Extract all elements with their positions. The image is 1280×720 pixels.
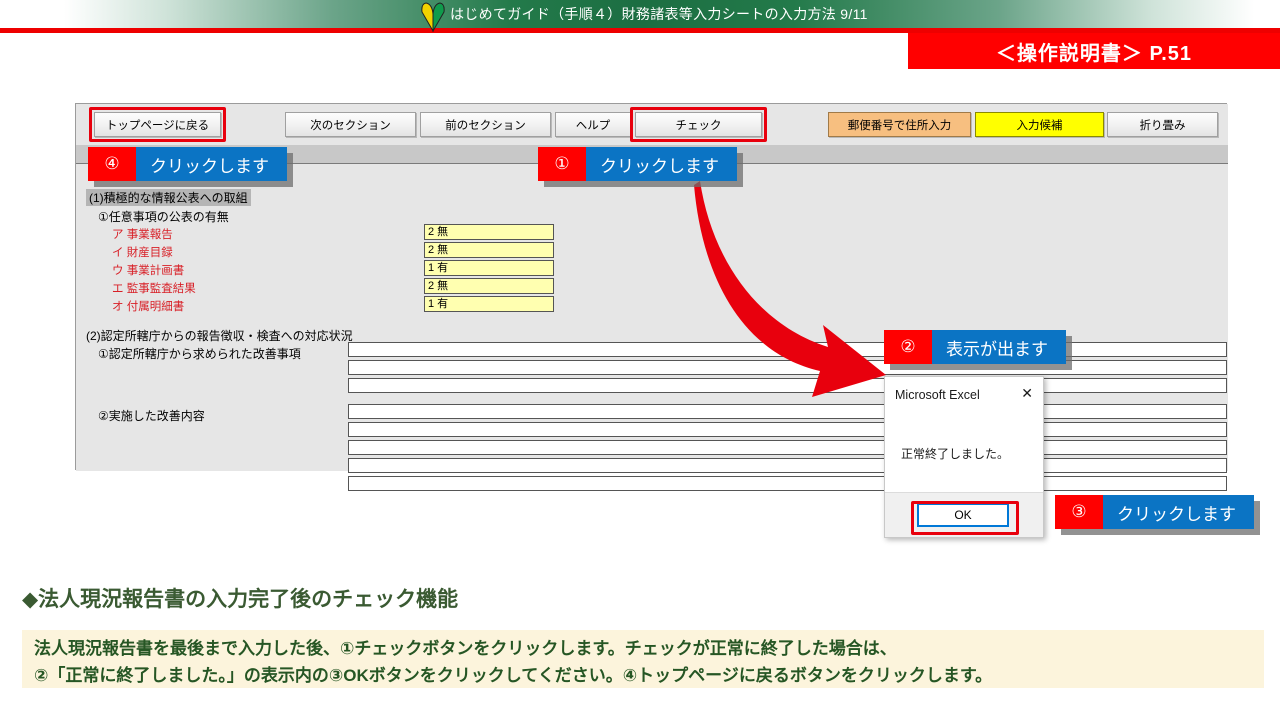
section1-row-label-0: ア 事業報告 bbox=[112, 226, 173, 242]
previous-section-button[interactable]: 前のセクション bbox=[420, 112, 551, 137]
header-title: はじめてガイド（手順４）財務諸表等入力シートの入力方法 9/11 bbox=[450, 4, 868, 24]
check-button-highlight bbox=[630, 107, 767, 142]
section1-row-label-4: オ 付属明細書 bbox=[112, 298, 184, 314]
callout-step-2: ② 表示が出ます bbox=[884, 330, 1066, 364]
callout-step-4-number: ④ bbox=[88, 147, 136, 181]
section2-item2-input-2[interactable] bbox=[348, 440, 1227, 455]
instruction-arrow bbox=[690, 165, 910, 415]
section2-item2-input-3[interactable] bbox=[348, 458, 1227, 473]
section2-item2-label: ②実施した改善内容 bbox=[98, 407, 205, 424]
page-reference-badge: ＜操作説明書＞ P.51 bbox=[908, 33, 1280, 69]
postal-code-address-input-button[interactable]: 郵便番号で住所入力 bbox=[828, 112, 971, 137]
section2-item2-input-1[interactable] bbox=[348, 422, 1227, 437]
next-section-button[interactable]: 次のセクション bbox=[285, 112, 416, 137]
dialog-ok-highlight bbox=[911, 501, 1019, 535]
section1-value-cell-3[interactable]: 2 無 bbox=[424, 278, 554, 294]
dialog-message: 正常終了しました。 bbox=[901, 445, 1009, 462]
footer-instruction-line-2: ②「正常に終了しました。」の表示内の③OKボタンをクリックしてください。④トップ… bbox=[34, 662, 1254, 689]
collapse-button[interactable]: 折り畳み bbox=[1107, 112, 1218, 137]
callout-step-2-text: 表示が出ます bbox=[932, 330, 1066, 364]
sheet-toolbar: トップページに戻る 次のセクション 前のセクション ヘルプ チェック 郵便番号で… bbox=[76, 104, 1228, 145]
callout-step-1-text: クリックします bbox=[586, 147, 737, 181]
sheet-body: (1)積極的な情報公表への取組 ①任意事項の公表の有無 ア 事業報告 イ 財産目… bbox=[76, 164, 1228, 471]
section1-row-label-1: イ 財産目録 bbox=[112, 244, 173, 260]
footer-instruction-line-1: 法人現況報告書を最後まで入力した後、①チェックボタンをクリックします。チェックが… bbox=[34, 635, 1254, 662]
section1-row-label-2: ウ 事業計画書 bbox=[112, 262, 184, 278]
section1-value-cell-4[interactable]: 1 有 bbox=[424, 296, 554, 312]
section1-value-cell-2[interactable]: 1 有 bbox=[424, 260, 554, 276]
section2-item1-label: ①認定所轄庁から求められた改善事項 bbox=[98, 345, 301, 362]
section1-value-cell-0[interactable]: 2 無 bbox=[424, 224, 554, 240]
callout-step-4: ④ クリックします bbox=[88, 147, 287, 181]
dialog-title: Microsoft Excel bbox=[895, 388, 980, 402]
footer-instruction-box: 法人現況報告書を最後まで入力した後、①チェックボタンをクリックします。チェックが… bbox=[22, 630, 1264, 688]
help-button[interactable]: ヘルプ bbox=[555, 112, 631, 137]
section1-subheading: ①任意事項の公表の有無 bbox=[98, 208, 229, 225]
callout-step-4-text: クリックします bbox=[136, 147, 287, 181]
wakaba-beginner-mark-icon bbox=[420, 2, 446, 32]
footer-section-title: ◆法人現況報告書の入力完了後のチェック機能 bbox=[22, 583, 458, 613]
callout-step-3-number: ③ bbox=[1055, 495, 1103, 529]
callout-step-2-number: ② bbox=[884, 330, 932, 364]
section1-heading: (1)積極的な情報公表への取組 bbox=[86, 189, 251, 206]
section1-row-label-3: エ 監事監査結果 bbox=[112, 280, 196, 296]
callout-step-3-text: クリックします bbox=[1103, 495, 1254, 529]
section2-item2-input-4[interactable] bbox=[348, 476, 1227, 491]
section1-value-cell-1[interactable]: 2 無 bbox=[424, 242, 554, 258]
callout-step-1: ① クリックします bbox=[538, 147, 737, 181]
section2-heading: (2)認定所轄庁からの報告徴収・検査への対応状況 bbox=[86, 327, 353, 344]
callout-step-3: ③ クリックします bbox=[1055, 495, 1254, 529]
callout-step-1-number: ① bbox=[538, 147, 586, 181]
input-candidate-button[interactable]: 入力候補 bbox=[975, 112, 1104, 137]
back-to-top-page-highlight bbox=[89, 107, 226, 142]
close-icon[interactable]: ✕ bbox=[1021, 386, 1033, 400]
